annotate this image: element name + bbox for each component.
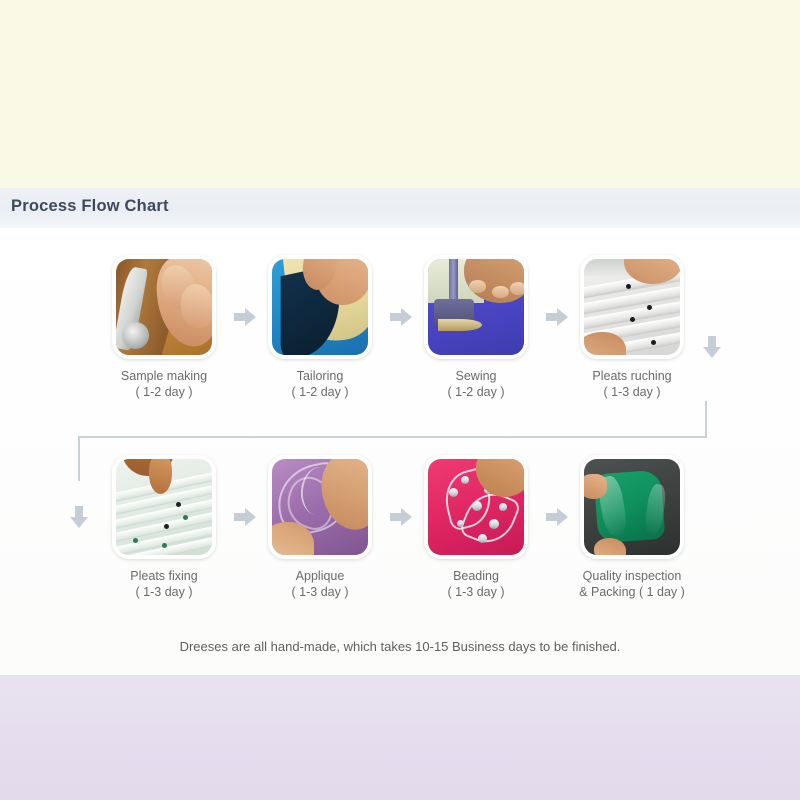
flow-step-sewing[interactable]: Sewing ( 1-2 day ) [396, 255, 556, 400]
photo-sewing [428, 259, 524, 355]
thumbnail-beading[interactable] [424, 455, 528, 559]
flow-step-pleats-fixing[interactable]: Pleats fixing ( 1-3 day ) [84, 455, 244, 600]
connector-line-horizontal [78, 436, 707, 438]
thumbnail-tailoring[interactable] [268, 255, 372, 359]
top-decorative-band [0, 0, 800, 188]
photo-beading [428, 459, 524, 555]
photo-tailoring [272, 259, 368, 355]
connector-line-vertical-left [78, 436, 80, 481]
flow-step-label: Quality inspection & Packing ( 1 day ) [552, 569, 712, 600]
flow-step-beading[interactable]: Beading ( 1-3 day ) [396, 455, 556, 600]
page-title: Process Flow Chart [11, 197, 169, 216]
process-flow-chart-page: Process Flow Chart Sample making ( 1-2 d… [0, 0, 800, 800]
photo-quality-packing [584, 459, 680, 555]
photo-pleats-ruching [584, 259, 680, 355]
flow-step-label: Sample making ( 1-2 day ) [84, 369, 244, 400]
connector-line-vertical-right [705, 401, 707, 437]
flow-step-label: Tailoring ( 1-2 day ) [240, 369, 400, 400]
flow-step-label: Applique ( 1-3 day ) [240, 569, 400, 600]
flow-step-label: Sewing ( 1-2 day ) [396, 369, 556, 400]
thumbnail-sewing[interactable] [424, 255, 528, 359]
flow-chart-caption: Dreeses are all hand-made, which takes 1… [0, 639, 800, 654]
flow-step-pleats-ruching[interactable]: Pleats ruching ( 1-3 day ) [552, 255, 712, 400]
flow-step-quality-packing[interactable]: Quality inspection & Packing ( 1 day ) [552, 455, 712, 600]
section-header-bar: Process Flow Chart [0, 188, 800, 229]
flow-step-label: Pleats fixing ( 1-3 day ) [84, 569, 244, 600]
flow-step-applique[interactable]: Applique ( 1-3 day ) [240, 455, 400, 600]
photo-pleats-fixing [116, 459, 212, 555]
flow-chart-canvas: Sample making ( 1-2 day ) Tailoring ( 1-… [0, 229, 800, 675]
bottom-decorative-band [0, 675, 800, 800]
thumbnail-quality-packing[interactable] [580, 455, 684, 559]
photo-sample-making [116, 259, 212, 355]
flow-step-label: Beading ( 1-3 day ) [396, 569, 556, 600]
thumbnail-sample-making[interactable] [112, 255, 216, 359]
arrow-down-icon-wrap [699, 334, 725, 360]
flow-step-label: Pleats ruching ( 1-3 day ) [552, 369, 712, 400]
photo-applique [272, 459, 368, 555]
thumbnail-applique[interactable] [268, 455, 372, 559]
thumbnail-pleats-fixing[interactable] [112, 455, 216, 559]
flow-step-tailoring[interactable]: Tailoring ( 1-2 day ) [240, 255, 400, 400]
flow-step-sample-making[interactable]: Sample making ( 1-2 day ) [84, 255, 244, 400]
thumbnail-pleats-ruching[interactable] [580, 255, 684, 359]
